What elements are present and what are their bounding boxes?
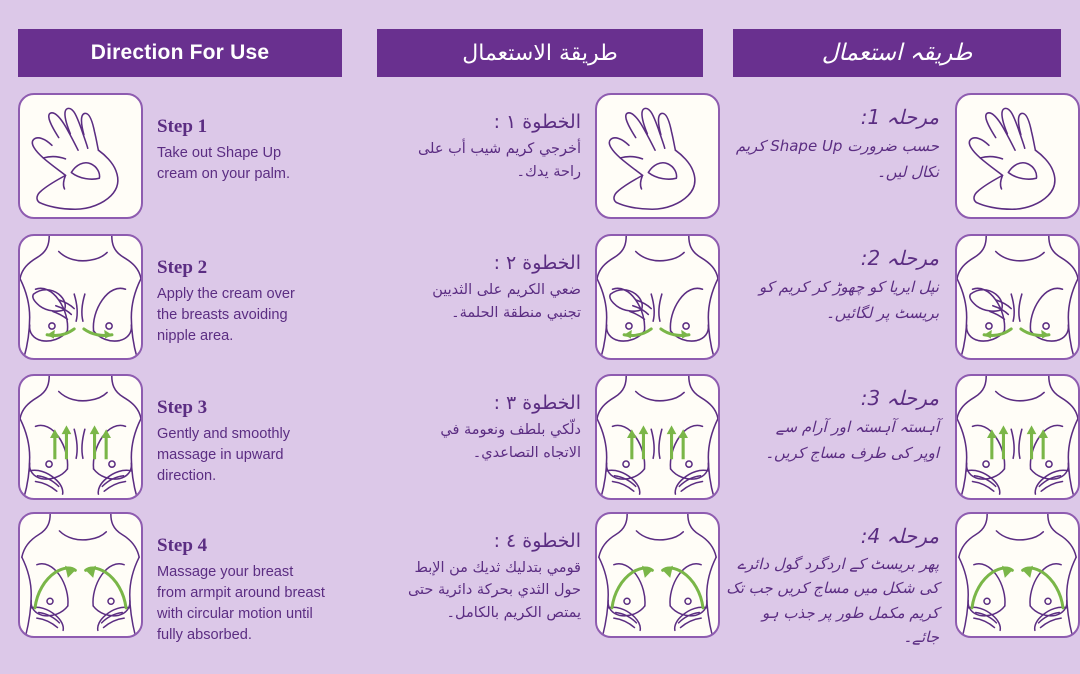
palm-with-cream-icon: [20, 95, 141, 217]
step-row-arabic-1: الخطوة ١ : أخرجي كريم شيب أب على راحة يد…: [360, 93, 720, 219]
step-body: دلّكي بلطف ونعومة في الاتجاه التصاعدي۔: [366, 419, 581, 465]
column-urdu: طریقہ استعمال: [720, 0, 1080, 674]
step-label: الخطوة ٢ :: [366, 252, 581, 275]
step-row-english-4: Step 4 Massage your breast from armpit a…: [18, 512, 360, 642]
illustration-card-hand-applying-cream: [595, 234, 720, 360]
step-row-english-1: Step 1 Take out Shape Up cream on your p…: [18, 93, 360, 219]
illustration-card-hand-applying-cream: [955, 234, 1080, 360]
step-body: حسب ضرورت Shape Up کریم نکال لیں۔: [726, 133, 939, 186]
illustration-card-circular-massage: [18, 512, 143, 638]
step-text-arabic-3: الخطوة ٣ : دلّكي بلطف ونعومة في الاتجاه …: [360, 374, 595, 465]
illustration-card-palm-with-cream: [18, 93, 143, 219]
step-label: Step 4: [157, 536, 325, 556]
illustration-card-palm-with-cream: [595, 93, 720, 219]
step-text-arabic-2: الخطوة ٢ : ضعي الكريم على الثديين تجنبي …: [360, 234, 595, 325]
step-text-english-1: Step 1 Take out Shape Up cream on your p…: [143, 93, 290, 185]
circular-massage-arrows-icon: [20, 514, 141, 636]
step-body: ضعي الكريم على الثديين تجنبي منطقة الحلم…: [366, 279, 581, 325]
hand-applying-cream-icon: [957, 236, 1078, 358]
step-row-urdu-4: مرحلہ 4: پھر بریسٹ کے اردگرد گول دائرے ک…: [720, 512, 1080, 642]
step-label: مرحلہ 3:: [726, 386, 939, 410]
header-bar-arabic: طريقة الاستعمال: [377, 29, 703, 77]
direction-for-use-infographic: Direction For Use: [0, 0, 1080, 674]
step-row-urdu-3: مرحلہ 3: آہستہ آہستہ اور آرام سے اوپر کی…: [720, 374, 1080, 500]
upward-massage-arrows-icon: [20, 376, 141, 498]
palm-with-cream-icon: [597, 95, 718, 217]
step-text-english-3: Step 3 Gently and smoothly massage in up…: [143, 374, 290, 487]
illustration-card-upward-massage: [18, 374, 143, 500]
column-arabic: طريقة الاستعمال: [360, 0, 720, 674]
step-text-urdu-1: مرحلہ 1: حسب ضرورت Shape Up کریم نکال لی…: [720, 93, 955, 186]
step-label: الخطوة ١ :: [366, 111, 581, 134]
hand-applying-cream-icon: [597, 236, 718, 358]
step-label: Step 1: [157, 117, 290, 137]
illustration-card-hand-applying-cream: [18, 234, 143, 360]
step-label: مرحلہ 4:: [726, 524, 939, 548]
step-row-urdu-2: مرحلہ 2: نپل ایریا کو چھوڑ کر کریم کو بر…: [720, 234, 1080, 360]
step-label: مرحلہ 1:: [726, 105, 939, 129]
illustration-card-upward-massage: [955, 374, 1080, 500]
step-text-urdu-2: مرحلہ 2: نپل ایریا کو چھوڑ کر کریم کو بر…: [720, 234, 955, 327]
illustration-card-circular-massage: [955, 512, 1080, 638]
illustration-card-upward-massage: [595, 374, 720, 500]
step-row-english-3: Step 3 Gently and smoothly massage in up…: [18, 374, 360, 500]
step-label: الخطوة ٤ :: [366, 530, 581, 553]
illustration-card-circular-massage: [595, 512, 720, 638]
circular-massage-arrows-icon: [597, 514, 718, 636]
step-body: پھر بریسٹ کے اردگرد گول دائرے کی شکل میں…: [726, 552, 939, 649]
step-text-english-2: Step 2 Apply the cream over the breasts …: [143, 234, 295, 347]
palm-with-cream-icon: [957, 95, 1078, 217]
circular-massage-arrows-icon: [957, 514, 1078, 636]
step-row-arabic-3: الخطوة ٣ : دلّكي بلطف ونعومة في الاتجاه …: [360, 374, 720, 500]
header-title-arabic: طريقة الاستعمال: [462, 41, 617, 66]
step-row-english-2: Step 2 Apply the cream over the breasts …: [18, 234, 360, 360]
step-text-urdu-4: مرحلہ 4: پھر بریسٹ کے اردگرد گول دائرے ک…: [720, 512, 955, 649]
step-text-arabic-4: الخطوة ٤ : قومي بتدليك ثديك من الإبط حول…: [360, 512, 595, 624]
step-body: Apply the cream over the breasts avoidin…: [157, 284, 295, 347]
step-label: الخطوة ٣ :: [366, 392, 581, 415]
step-text-arabic-1: الخطوة ١ : أخرجي كريم شيب أب على راحة يد…: [360, 93, 595, 184]
header-bar-english: Direction For Use: [18, 29, 342, 77]
step-label: مرحلہ 2:: [726, 246, 939, 270]
header-bar-urdu: طریقہ استعمال: [733, 29, 1061, 77]
step-text-english-4: Step 4 Massage your breast from armpit a…: [143, 512, 325, 647]
step-row-arabic-2: الخطوة ٢ : ضعي الكريم على الثديين تجنبي …: [360, 234, 720, 360]
hand-applying-cream-icon: [20, 236, 141, 358]
illustration-card-palm-with-cream: [955, 93, 1080, 219]
column-english: Direction For Use: [0, 0, 360, 674]
header-title-urdu: طریقہ استعمال: [822, 40, 973, 66]
header-title-english: Direction For Use: [91, 41, 269, 65]
step-label: Step 3: [157, 398, 290, 418]
step-body: نپل ایریا کو چھوڑ کر کریم کو بریسٹ پر لگ…: [726, 274, 939, 327]
upward-massage-arrows-icon: [597, 376, 718, 498]
step-row-arabic-4: الخطوة ٤ : قومي بتدليك ثديك من الإبط حول…: [360, 512, 720, 642]
step-label: Step 2: [157, 258, 295, 278]
step-body: Take out Shape Up cream on your palm.: [157, 143, 290, 185]
step-body: Gently and smoothly massage in upward di…: [157, 424, 290, 487]
step-body: Massage your breast from armpit around b…: [157, 562, 325, 647]
upward-massage-arrows-icon: [957, 376, 1078, 498]
step-body: قومي بتدليك ثديك من الإبط حول الثدي بحرك…: [366, 557, 581, 624]
step-row-urdu-1: مرحلہ 1: حسب ضرورت Shape Up کریم نکال لی…: [720, 93, 1080, 219]
step-body: آہستہ آہستہ اور آرام سے اوپر کی طرف مساج…: [726, 414, 939, 467]
step-text-urdu-3: مرحلہ 3: آہستہ آہستہ اور آرام سے اوپر کی…: [720, 374, 955, 467]
step-body: أخرجي كريم شيب أب على راحة يدك۔: [366, 138, 581, 184]
